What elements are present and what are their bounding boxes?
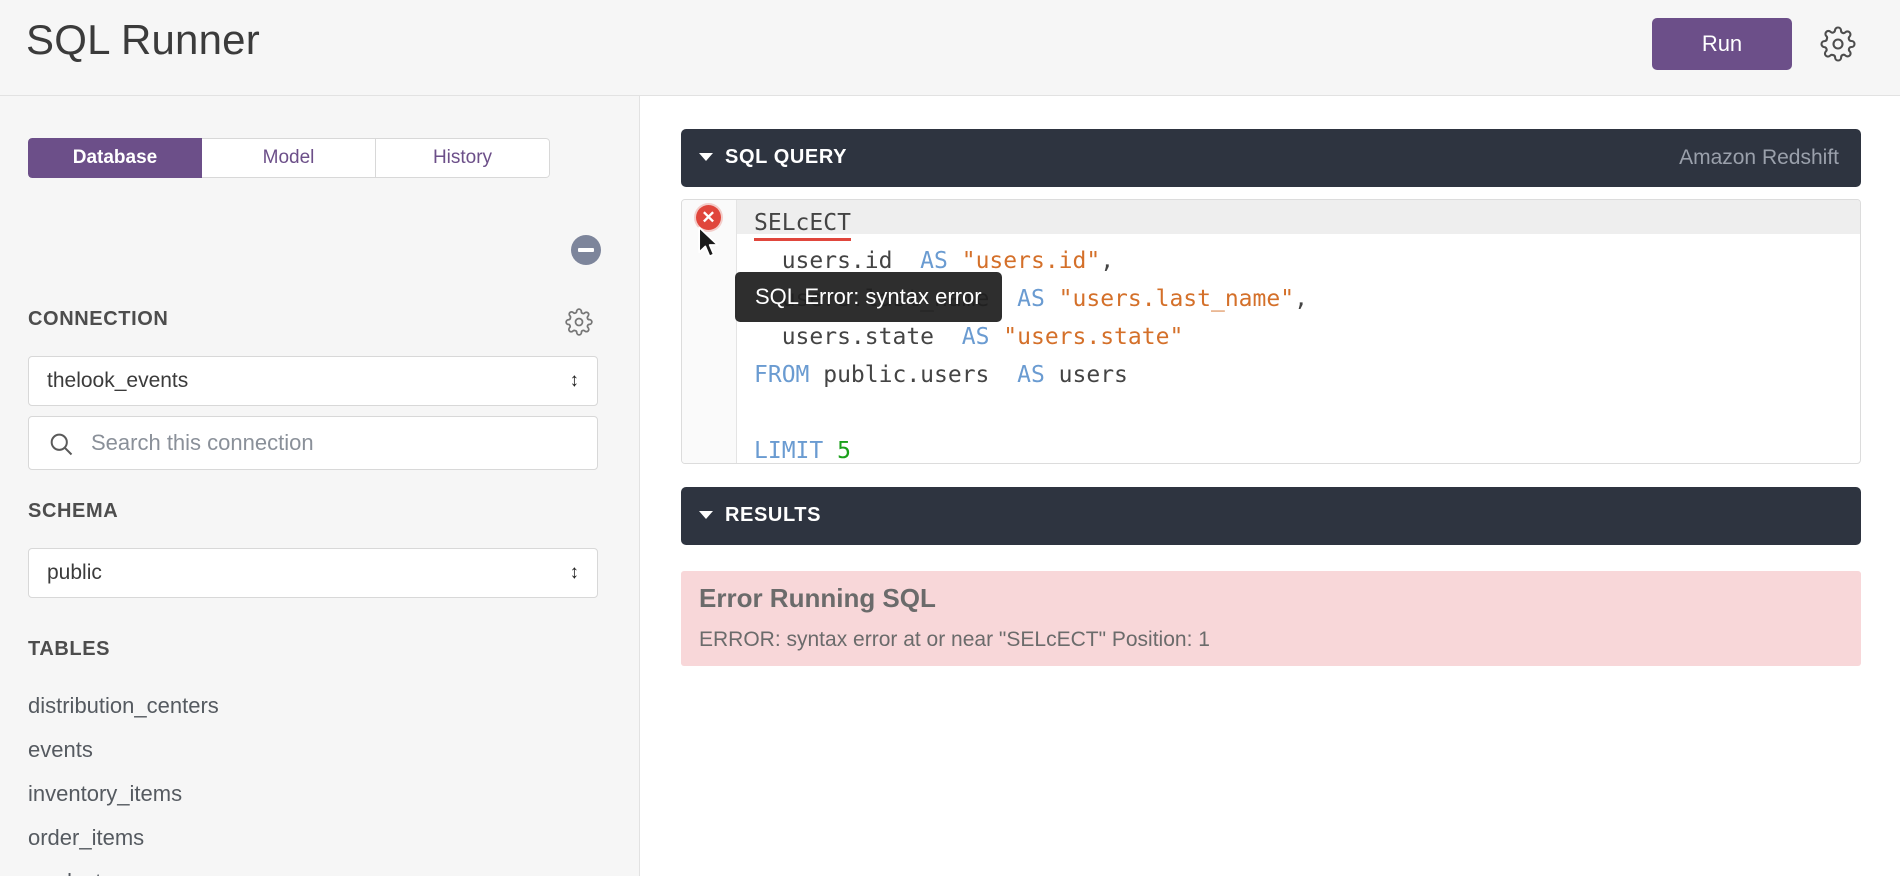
run-button[interactable]: Run (1652, 18, 1792, 70)
top-header-bar: SQL Runner Run (0, 0, 1900, 96)
code-token: public.users (809, 362, 1017, 388)
search-icon (47, 430, 75, 463)
code-token: "users.state" (1003, 324, 1183, 350)
sql-query-title: SQL QUERY (725, 146, 847, 169)
code-line: users.state AS "users.state" (754, 318, 1308, 356)
sql-error-tooltip: SQL Error: syntax error (735, 272, 1002, 322)
updown-arrows-icon: ↕ (570, 369, 580, 393)
tables-section-label: TABLES (28, 638, 110, 661)
connection-settings-gear-icon[interactable] (565, 308, 593, 336)
code-token: , (1294, 286, 1308, 312)
code-token: AS (1017, 286, 1045, 312)
tab-database[interactable]: Database (28, 138, 202, 178)
code-token (948, 248, 962, 274)
caret-down-icon[interactable] (699, 511, 713, 519)
code-token: , (1100, 248, 1114, 274)
connection-select-value: thelook_events (47, 369, 188, 393)
sidebar: Database Model History CONNECTION theloo… (0, 96, 640, 876)
sql-query-panel-header[interactable]: SQL QUERY Amazon Redshift (681, 129, 1861, 187)
gear-icon[interactable] (1820, 26, 1856, 62)
code-line: SELcECT (754, 204, 1308, 242)
code-token: 5 (837, 438, 851, 464)
list-item[interactable]: inventory_items (28, 772, 588, 816)
tables-list: distribution_centers events inventory_it… (28, 684, 588, 876)
code-token: FROM (754, 362, 809, 388)
code-token: AS (1017, 362, 1045, 388)
search-connection-input[interactable]: Search this connection (28, 416, 598, 470)
list-item[interactable]: products (28, 860, 588, 876)
error-x-glyph: ✕ (696, 205, 721, 230)
code-token: LIMIT (754, 438, 823, 464)
error-circle-x-icon[interactable]: ✕ (696, 205, 721, 230)
tab-history[interactable]: History (376, 138, 550, 178)
page-title: SQL Runner (26, 16, 260, 64)
code-token (989, 324, 1003, 350)
sql-runner-app: SQL Runner Run Database Model History CO… (0, 0, 1900, 876)
schema-section-label: SCHEMA (28, 500, 118, 523)
tab-model[interactable]: Model (202, 138, 376, 178)
list-item[interactable]: distribution_centers (28, 684, 588, 728)
schema-select-value: public (47, 561, 102, 585)
results-panel-header[interactable]: RESULTS (681, 487, 1861, 545)
main-content: SQL QUERY Amazon Redshift ✕ SELcECT user… (641, 96, 1900, 876)
dialect-label: Amazon Redshift (1679, 146, 1839, 170)
code-token: users.id (754, 248, 920, 274)
sql-editor[interactable]: ✕ SELcECT users.id AS "users.id", users.… (681, 199, 1861, 464)
error-title: Error Running SQL (699, 583, 936, 614)
list-item[interactable]: order_items (28, 816, 588, 860)
connection-section-label: CONNECTION (28, 308, 168, 331)
search-placeholder-text: Search this connection (91, 430, 314, 456)
code-line: LIMIT 5 (754, 432, 1308, 464)
code-token: users (1045, 362, 1128, 388)
sidebar-tab-group: Database Model History (28, 138, 550, 178)
sql-code-text: SELcECT users.id AS "users.id", users.la… (754, 204, 1308, 464)
list-item[interactable]: events (28, 728, 588, 772)
code-token: SELcECT (754, 210, 851, 241)
code-token (1045, 286, 1059, 312)
editor-gutter (682, 200, 737, 464)
code-token: AS (962, 324, 990, 350)
code-line (754, 394, 1308, 432)
error-detail-message: ERROR: syntax error at or near "SELcECT"… (699, 628, 1210, 652)
caret-down-icon[interactable] (699, 153, 713, 161)
error-running-sql-panel: Error Running SQL ERROR: syntax error at… (681, 571, 1861, 666)
connection-select[interactable]: thelook_events ↕ (28, 356, 598, 406)
updown-arrows-icon: ↕ (570, 561, 580, 585)
code-token (823, 438, 837, 464)
schema-select[interactable]: public ↕ (28, 548, 598, 598)
minus-circle-icon[interactable] (571, 235, 601, 265)
results-title: RESULTS (725, 504, 821, 527)
code-token: "users.last_name" (1059, 286, 1294, 312)
code-token: AS (920, 248, 948, 274)
code-line: FROM public.users AS users (754, 356, 1308, 394)
code-token: "users.id" (962, 248, 1100, 274)
code-token: users.state (754, 324, 962, 350)
